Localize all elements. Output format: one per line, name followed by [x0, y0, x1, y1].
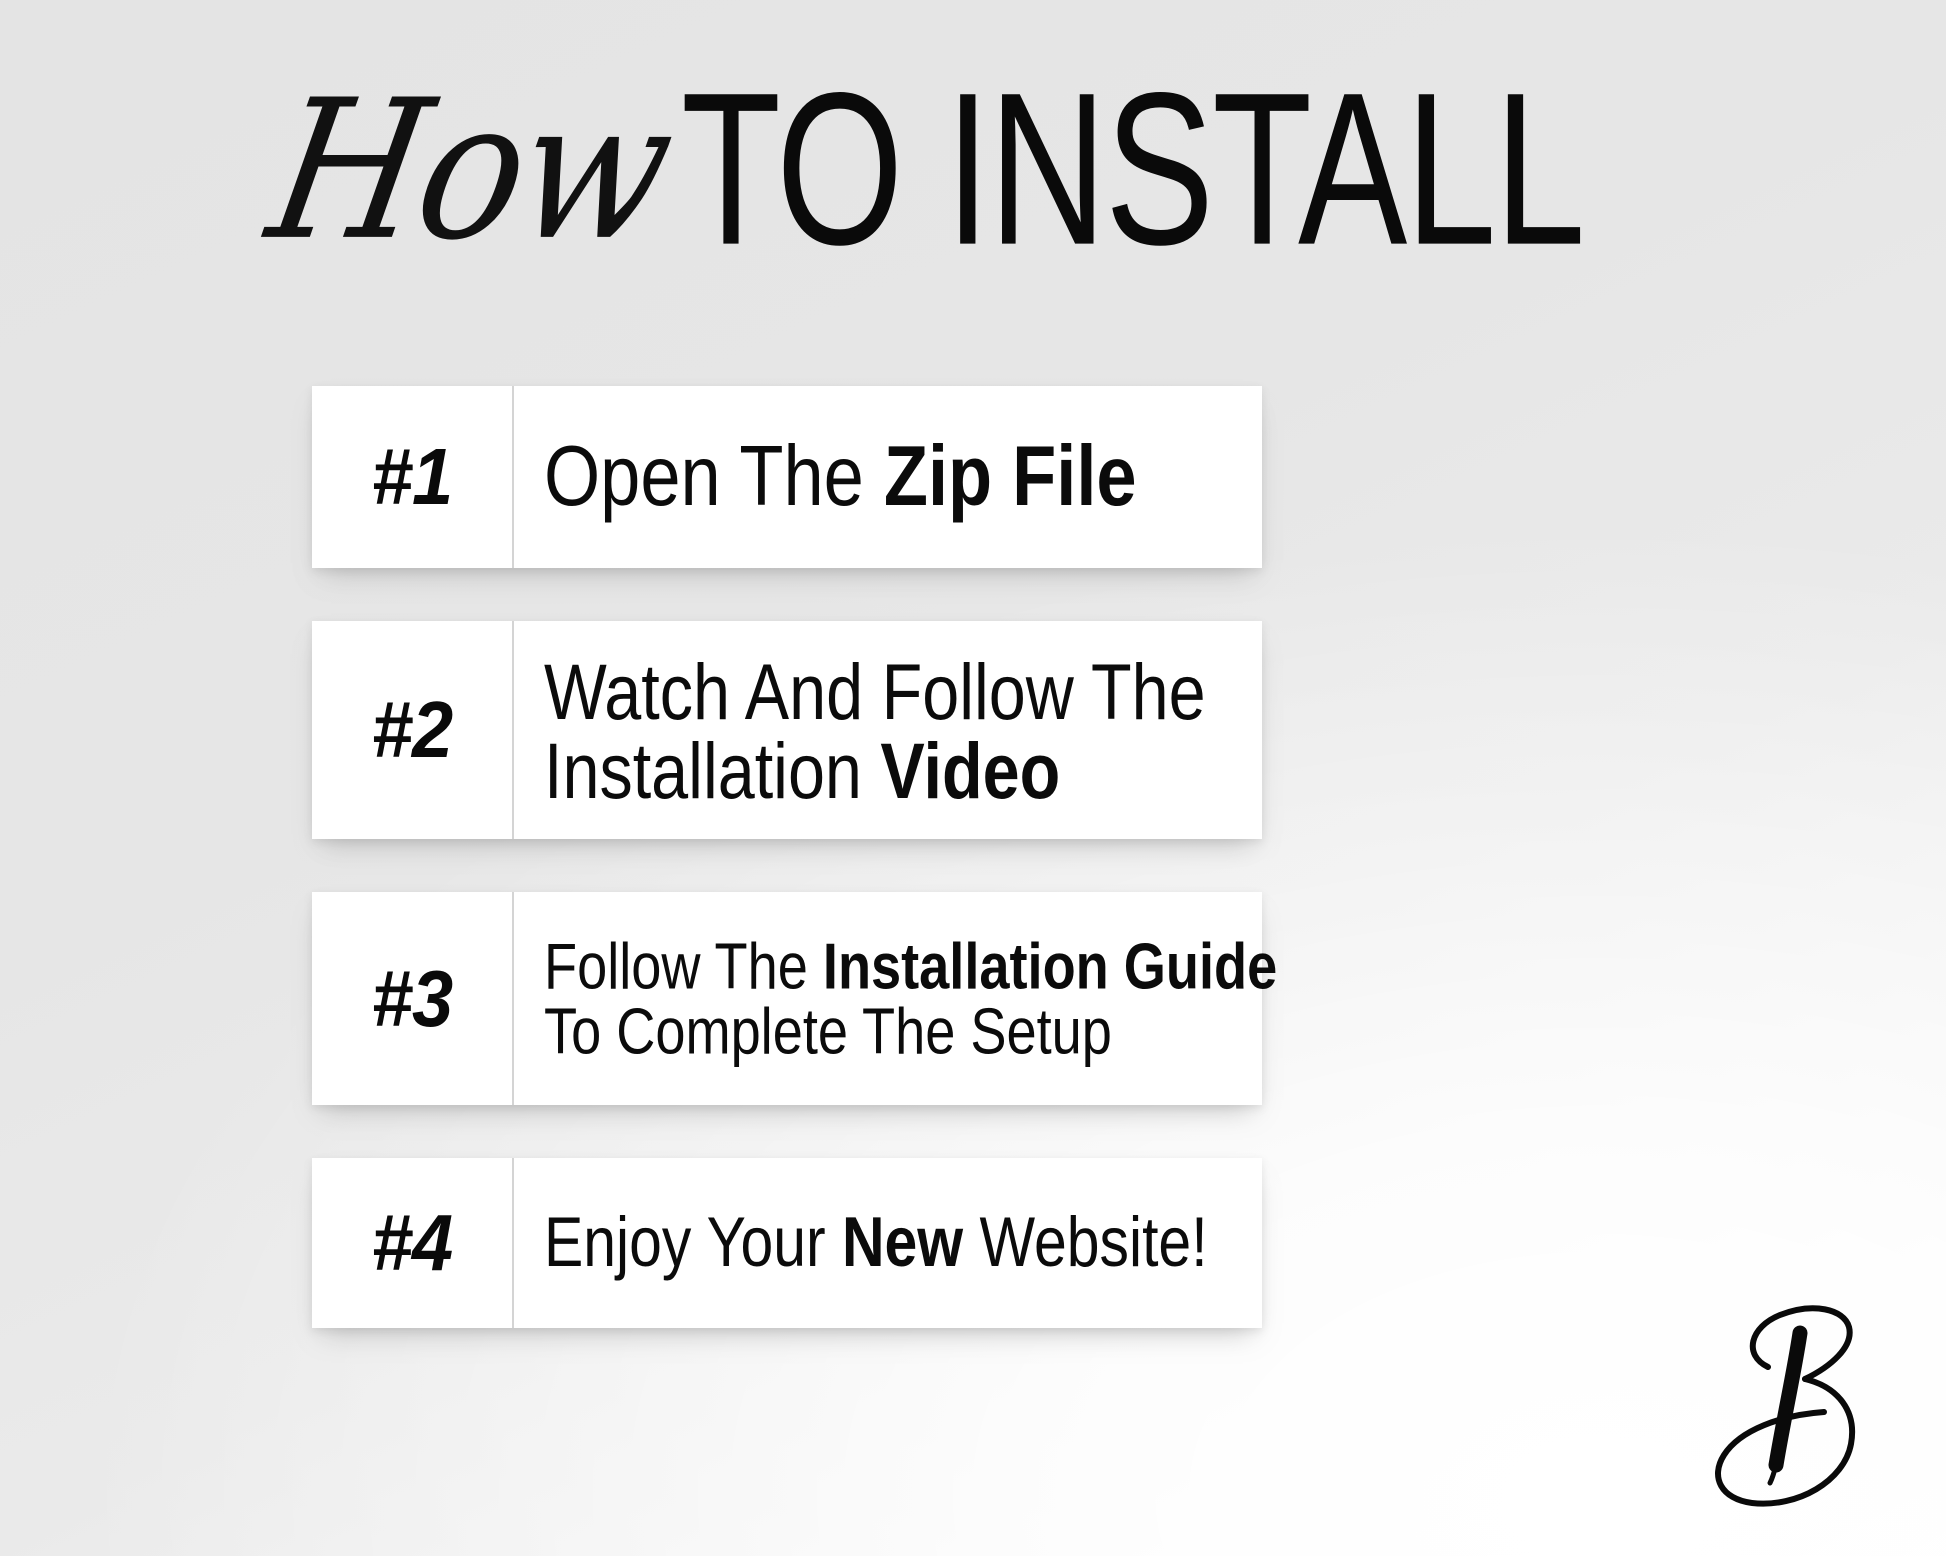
step-card-1[interactable]: #1 Open The Zip File	[312, 386, 1262, 568]
step-text-plain: Enjoy Your	[544, 1203, 842, 1282]
step-text-bold: Installation Guide	[823, 931, 1277, 1004]
step-body-3: Follow The Installation Guide To Complet…	[514, 892, 1336, 1105]
step-line-3-2: To Complete The Setup	[544, 995, 1277, 1068]
step-line-4-1: Enjoy Your New Website!	[544, 1208, 1208, 1279]
step-text-plain: Watch And Follow The	[544, 648, 1206, 735]
step-number-2: #2	[372, 690, 453, 770]
step-number-4: #4	[372, 1203, 453, 1283]
step-text-bold: Zip File	[884, 429, 1137, 524]
step-line-1-1: Open The Zip File	[544, 434, 1207, 519]
step-body-2: Watch And Follow The Installation Video	[514, 621, 1262, 839]
step-text-plain: To Complete The Setup	[544, 995, 1112, 1068]
step-body-4: Enjoy Your New Website!	[514, 1158, 1262, 1328]
step-number-cell-4: #4	[312, 1158, 514, 1328]
step-number-3: #3	[372, 959, 453, 1039]
step-number-1: #1	[372, 437, 453, 517]
step-text-bold: Video	[880, 727, 1060, 814]
brand-monogram-b	[1648, 1269, 1898, 1534]
step-text-plain: Open The	[544, 429, 884, 524]
step-number-cell-3: #3	[312, 892, 514, 1105]
step-text-suffix: Website!	[963, 1203, 1207, 1282]
step-line-3-1: Follow The Installation Guide	[544, 931, 1277, 1004]
title-main-word: TO INSTALL	[681, 75, 1584, 262]
monogram-b-icon	[1648, 1269, 1898, 1534]
step-text-plain: Follow The	[544, 931, 823, 1004]
step-text-plain: Installation	[544, 727, 880, 814]
step-card-2[interactable]: #2 Watch And Follow The Installation Vid…	[312, 621, 1262, 839]
step-number-cell-2: #2	[312, 621, 514, 839]
step-body-1: Open The Zip File	[514, 386, 1262, 568]
step-line-2-1: Watch And Follow The	[544, 648, 1207, 737]
step-line-2-2: Installation Video	[544, 727, 1207, 816]
title-inner: How TO INSTALL	[260, 109, 1662, 262]
title-script-word: How	[262, 93, 710, 247]
step-text-bold: New	[842, 1203, 963, 1282]
step-card-4[interactable]: #4 Enjoy Your New Website!	[312, 1158, 1262, 1328]
step-number-cell-1: #1	[312, 386, 514, 568]
steps-list: #1 Open The Zip File #2 Watch And Follow…	[312, 386, 1262, 1328]
page-title: How TO INSTALL	[0, 52, 1946, 262]
poster-canvas: How TO INSTALL #1 Open The Zip File #2 W…	[0, 0, 1946, 1556]
step-card-3[interactable]: #3 Follow The Installation Guide To Comp…	[312, 892, 1262, 1105]
